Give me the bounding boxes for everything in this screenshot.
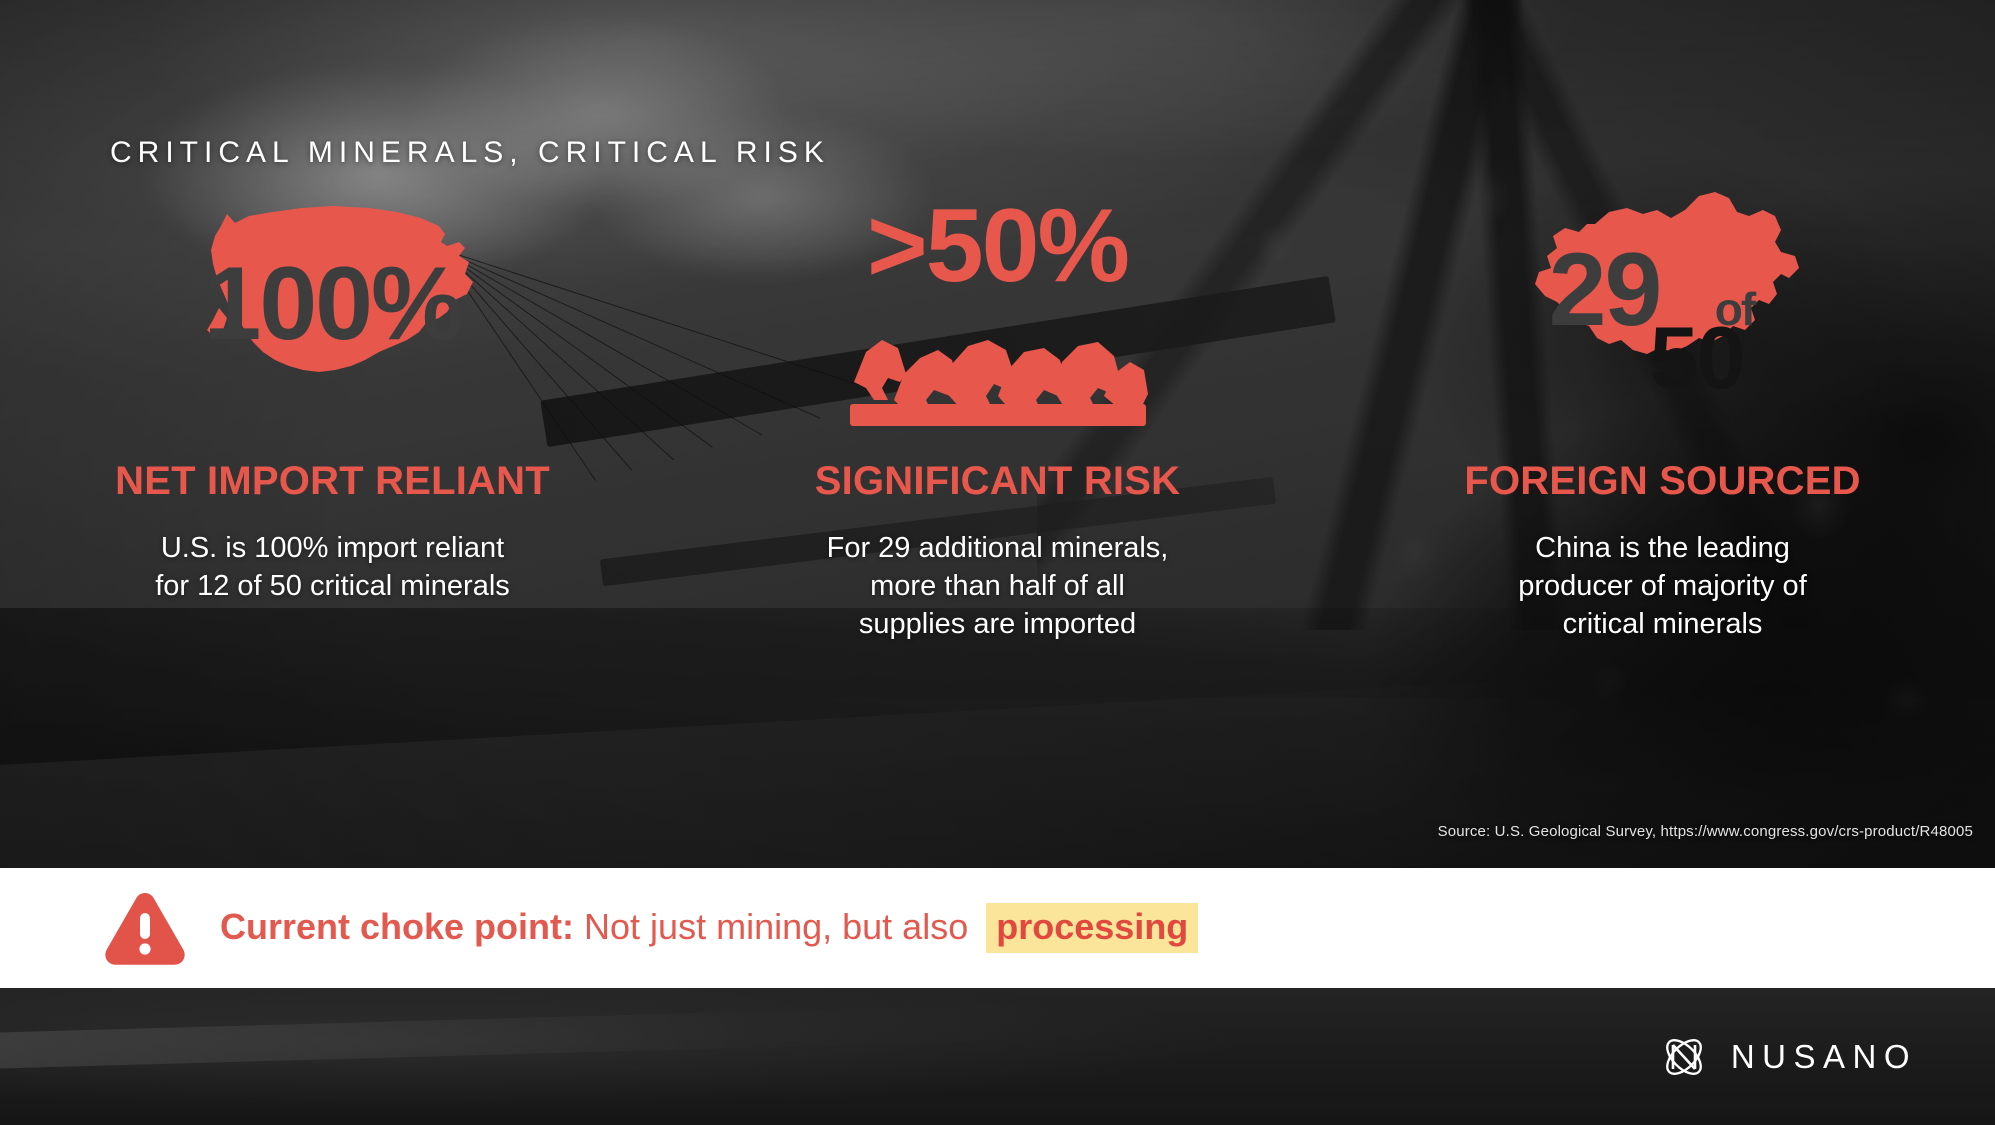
mineral-rocks-art: >50%	[665, 190, 1330, 452]
mineral-rocks-icon	[848, 278, 1148, 474]
source-attribution: Source: U.S. Geological Survey, https://…	[1438, 823, 1973, 840]
usa-map-icon	[183, 190, 483, 386]
brand-name: NUSANO	[1731, 1038, 1917, 1076]
footer-bar: NUSANO	[0, 988, 1995, 1125]
callout-highlight-processing: processing	[986, 903, 1198, 953]
page-title: CRITICAL MINERALS, CRITICAL RISK	[110, 136, 830, 170]
china-map-art: 29 of 50	[1330, 190, 1995, 452]
stat-body-foreign-sourced: China is the leading producer of majorit…	[1483, 530, 1843, 643]
callout-text: Current choke point: Not just mining, bu…	[220, 903, 1198, 953]
stat-column-foreign-sourced: 29 of 50 FOREIGN SOURCED China is the le…	[1330, 190, 1995, 830]
infographic-slide: CRITICAL MINERALS, CRITICAL RISK 100% NE…	[0, 0, 1995, 1125]
choke-point-callout: Current choke point: Not just mining, bu…	[0, 868, 1995, 988]
stat-column-net-import-reliant: 100% NET IMPORT RELIANT U.S. is 100% imp…	[0, 190, 665, 830]
stats-row: 100% NET IMPORT RELIANT U.S. is 100% imp…	[0, 190, 1995, 830]
stat-heading-foreign-sourced: FOREIGN SOURCED	[1464, 458, 1860, 504]
callout-rest: Not just mining, but also	[584, 906, 968, 947]
stat-body-net-import-reliant: U.S. is 100% import reliant for 12 of 50…	[153, 530, 513, 605]
china-map-icon	[1523, 190, 1803, 376]
stat-body-significant-risk: For 29 additional minerals, more than ha…	[818, 530, 1178, 643]
stat-heading-net-import-reliant: NET IMPORT RELIANT	[115, 458, 550, 504]
nusano-atom-logo	[1659, 1032, 1709, 1082]
brand-lockup: NUSANO	[1659, 1032, 1917, 1082]
usa-map-art: 100%	[0, 190, 665, 452]
callout-bold-lead: Current choke point:	[220, 906, 574, 947]
warning-triangle-icon	[104, 891, 186, 965]
stat-column-significant-risk: >50% SIGNIFICANT RISK For 29 additional …	[665, 190, 1330, 830]
